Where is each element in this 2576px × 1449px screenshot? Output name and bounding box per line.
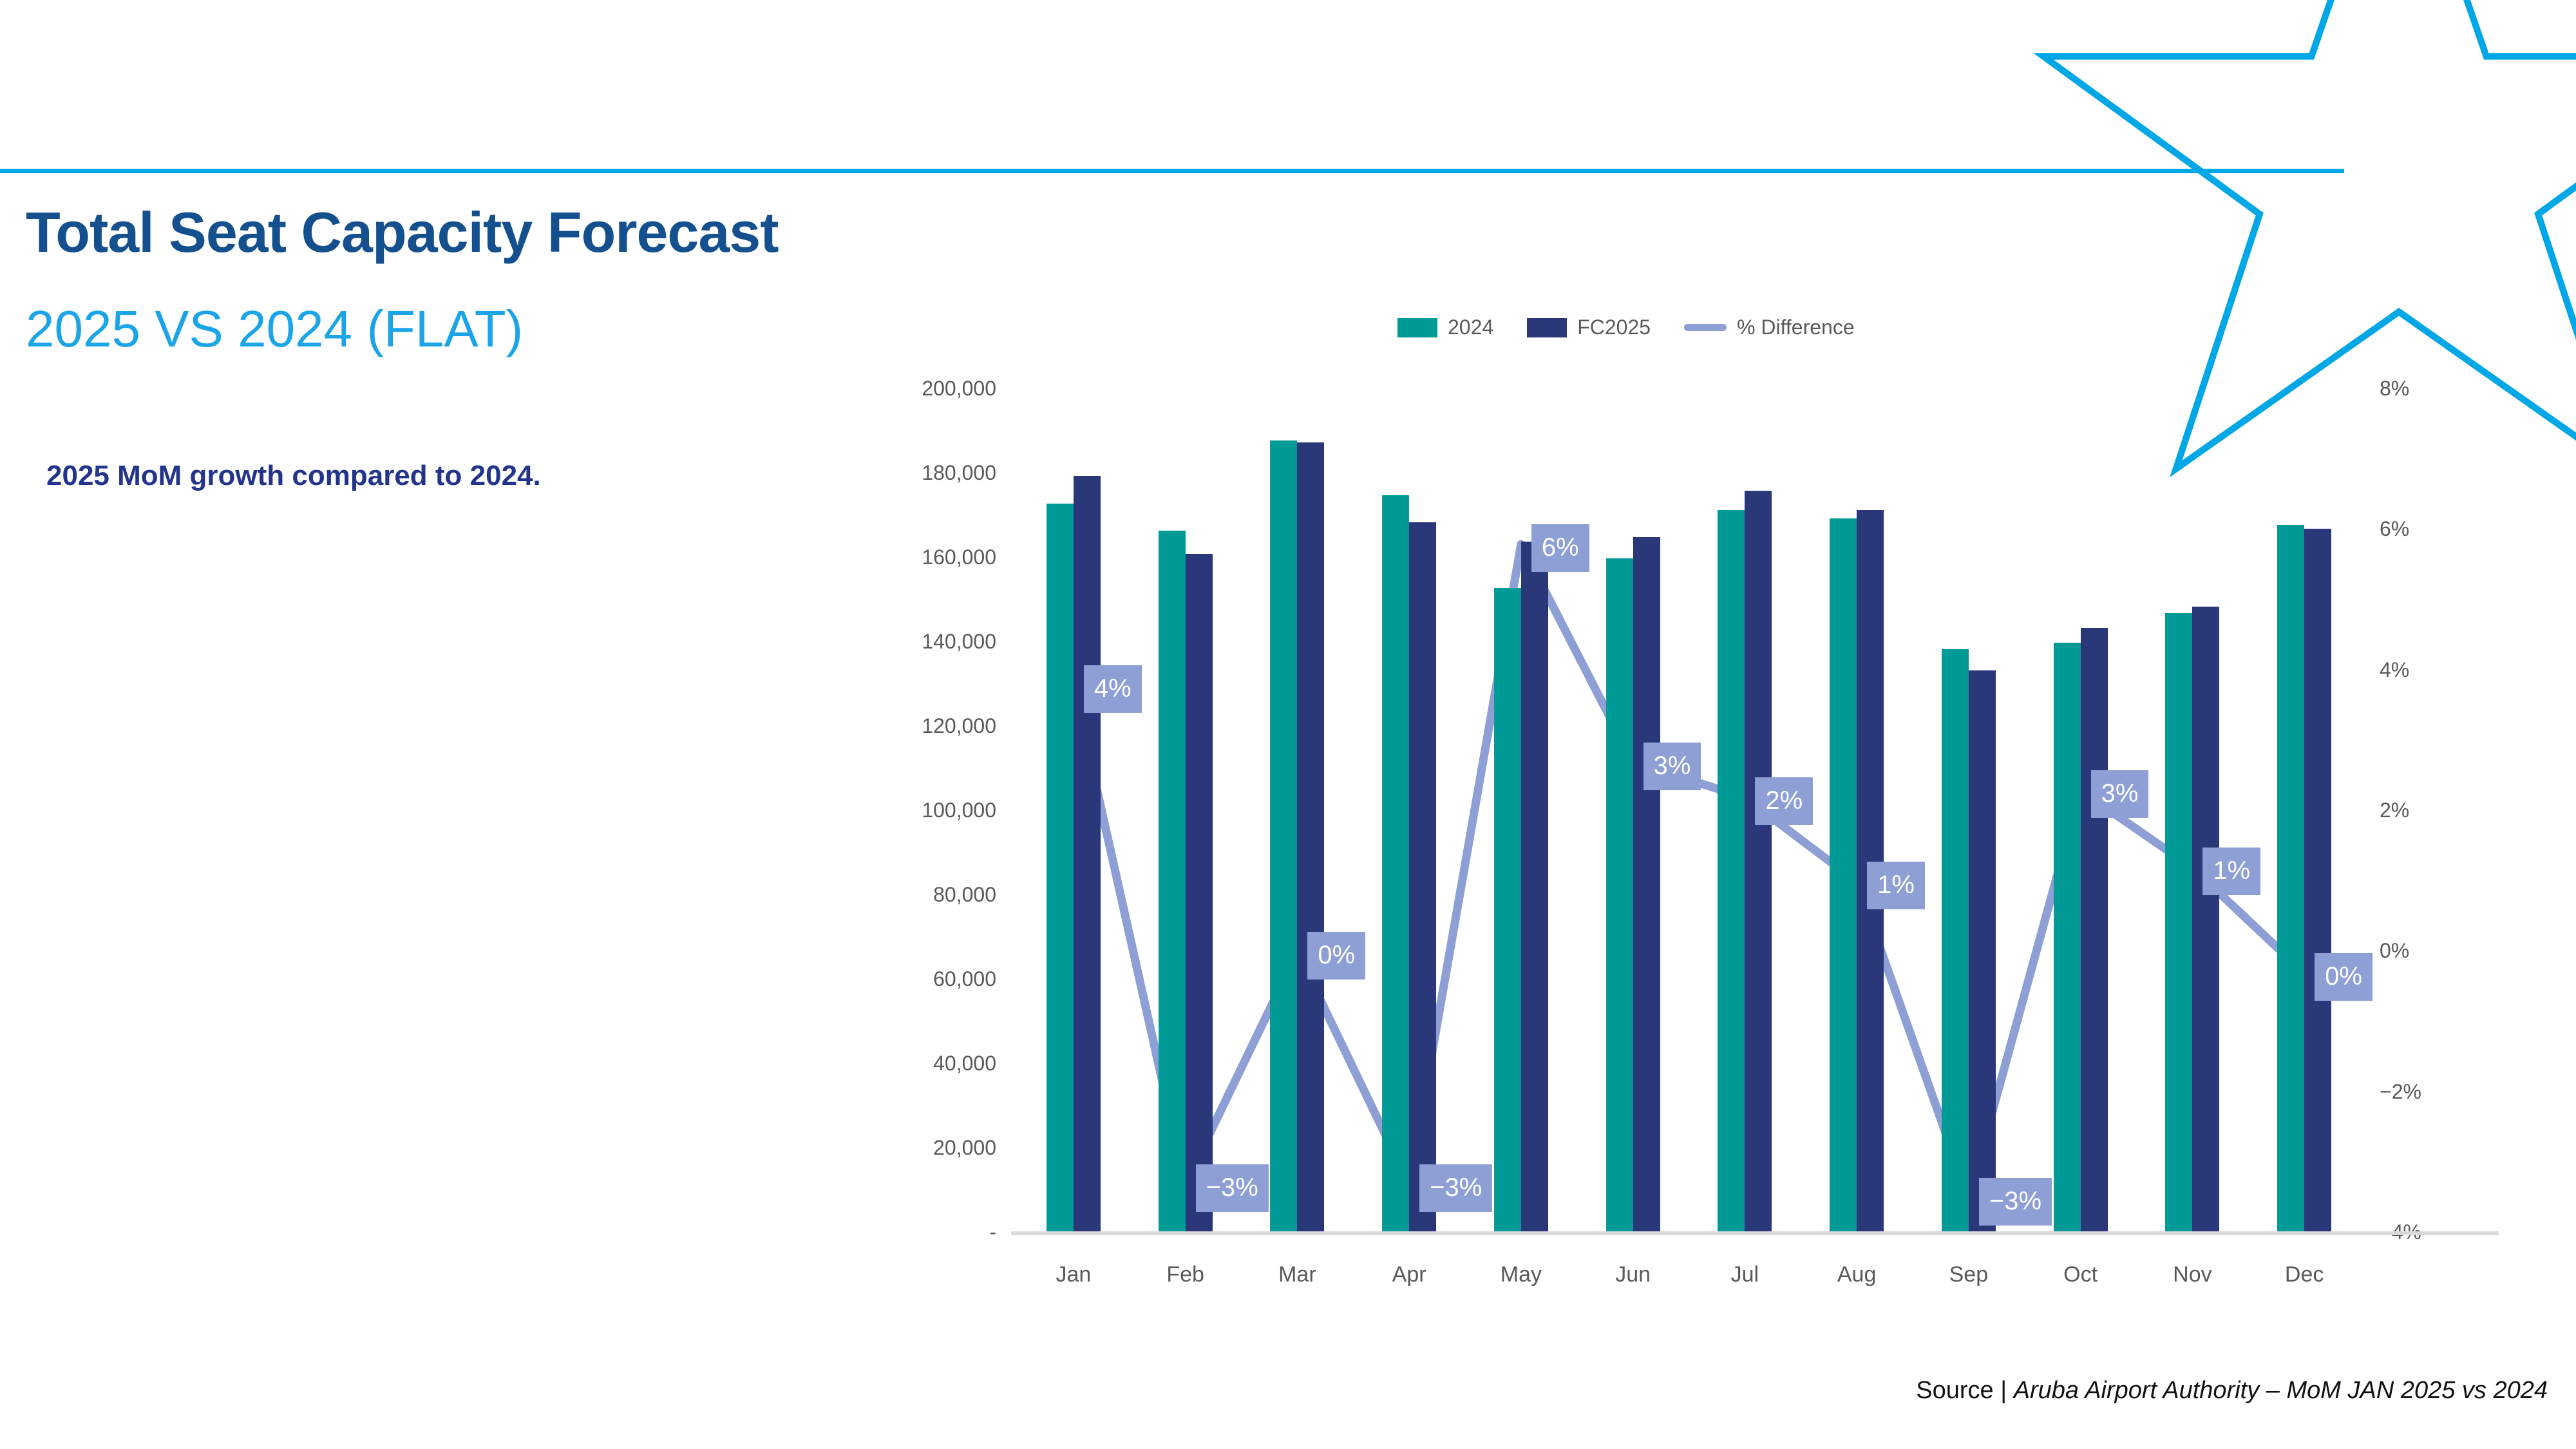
bar-fc2025[interactable] — [1633, 537, 1660, 1233]
difference-data-label: 1% — [2202, 848, 2260, 895]
category-axis-line — [1011, 1231, 2499, 1235]
bar-group — [1353, 390, 1465, 1233]
bar-2024[interactable] — [1942, 649, 1969, 1233]
bar-fc2025[interactable] — [1297, 442, 1324, 1233]
bar-group — [1465, 390, 1577, 1233]
difference-data-label: −3% — [1419, 1164, 1492, 1212]
legend-line-difference — [1684, 324, 1727, 331]
left-axis-tick: 160,000 — [922, 545, 996, 569]
left-axis-tick: 80,000 — [933, 883, 996, 907]
page-subtitle: 2025 VS 2024 (FLAT) — [26, 299, 523, 359]
source-line: Source | Aruba Airport Authority – MoM J… — [1916, 1377, 2548, 1405]
bar-2024[interactable] — [1606, 558, 1633, 1233]
difference-data-label: 3% — [1643, 743, 1701, 790]
difference-data-label: 3% — [2091, 770, 2149, 818]
bar-group — [1913, 390, 2025, 1233]
bar-group — [1018, 390, 1130, 1233]
right-percent-axis: 8%6%4%2%0%−2%−4% — [2367, 390, 2495, 1233]
bar-group — [1577, 390, 1689, 1233]
bar-2024[interactable] — [2165, 613, 2192, 1233]
difference-data-label: −3% — [1196, 1164, 1269, 1212]
difference-data-label: 2% — [1755, 777, 1813, 825]
bar-fc2025[interactable] — [1521, 542, 1548, 1233]
legend-item-difference[interactable]: % Difference — [1684, 316, 1855, 339]
right-axis-tick: 0% — [2380, 939, 2409, 963]
bar-group — [2137, 390, 2249, 1233]
bar-2024[interactable] — [1494, 588, 1521, 1233]
bar-fc2025[interactable] — [1409, 522, 1436, 1233]
bar-2024[interactable] — [1159, 531, 1186, 1233]
left-axis-tick: 60,000 — [933, 967, 996, 991]
chart-legend: 2024 FC2025 % Difference — [1397, 316, 1855, 339]
legend-label-2024: 2024 — [1448, 316, 1493, 339]
source-text: Aruba Airport Authority – MoM JAN 2025 v… — [2014, 1377, 2548, 1404]
difference-data-label: 6% — [1531, 524, 1589, 572]
difference-data-label: −3% — [1979, 1178, 2052, 1226]
bar-2024[interactable] — [2054, 643, 2081, 1233]
left-value-axis: 200,000180,000160,000140,000120,000100,0… — [824, 390, 1008, 1233]
bar-2024[interactable] — [1046, 504, 1074, 1233]
bar-group — [2248, 390, 2360, 1233]
x-axis-label: Feb — [1130, 1262, 1242, 1301]
page-title: Total Seat Capacity Forecast — [26, 200, 779, 265]
legend-label-fc2025: FC2025 — [1577, 316, 1651, 339]
x-axis-label: May — [1465, 1262, 1577, 1301]
bar-group — [1242, 390, 1354, 1233]
right-axis-tick: 2% — [2380, 799, 2409, 822]
bar-fc2025[interactable] — [1074, 476, 1101, 1233]
right-axis-tick: −2% — [2380, 1080, 2421, 1104]
left-axis-tick: 200,000 — [922, 377, 996, 401]
x-axis-label: Aug — [1801, 1262, 1913, 1301]
legend-item-2024[interactable]: 2024 — [1397, 316, 1493, 339]
plot-area: 4%−3%0%−3%6%3%2%1%−3%3%1%0% — [1018, 390, 2360, 1233]
bar-fc2025[interactable] — [1186, 554, 1213, 1233]
right-axis-tick: 6% — [2380, 517, 2409, 541]
kicker-text: 2025 MoM growth compared to 2024. — [46, 457, 690, 495]
left-axis-tick: - — [989, 1220, 996, 1244]
difference-data-label: 0% — [1307, 932, 1365, 980]
category-axis-labels: JanFebMarAprMayJunJulAugSepOctNovDec — [1018, 1262, 2360, 1301]
slide-canvas: Total Seat Capacity Forecast 2025 VS 202… — [0, 0, 2576, 1449]
bar-fc2025[interactable] — [2192, 607, 2219, 1233]
difference-data-label: 4% — [1084, 665, 1142, 713]
x-axis-label: Dec — [2248, 1262, 2360, 1301]
x-axis-label: Jul — [1689, 1262, 1801, 1301]
bar-group — [1130, 390, 1242, 1233]
left-axis-tick: 140,000 — [922, 630, 996, 654]
source-prefix: Source | — [1916, 1377, 2013, 1404]
bar-2024[interactable] — [1382, 495, 1409, 1233]
right-axis-tick: 4% — [2380, 658, 2409, 682]
bar-fc2025[interactable] — [2081, 628, 2108, 1233]
x-axis-label: Apr — [1353, 1262, 1465, 1301]
legend-item-fc2025[interactable]: FC2025 — [1527, 316, 1651, 339]
bar-2024[interactable] — [1270, 440, 1297, 1233]
bar-fc2025[interactable] — [1969, 670, 1996, 1233]
left-axis-tick: 20,000 — [933, 1136, 996, 1160]
x-axis-label: Jun — [1577, 1262, 1689, 1301]
x-axis-label: Mar — [1242, 1262, 1354, 1301]
legend-swatch-fc2025 — [1527, 318, 1567, 337]
legend-label-difference: % Difference — [1737, 316, 1855, 339]
difference-data-label: 1% — [1867, 862, 1925, 909]
bar-2024[interactable] — [1830, 518, 1857, 1233]
left-axis-tick: 100,000 — [922, 799, 996, 822]
header-rule — [0, 169, 2344, 173]
bar-fc2025[interactable] — [1745, 491, 1772, 1233]
x-axis-label: Nov — [2137, 1262, 2249, 1301]
bar-group — [1801, 390, 1913, 1233]
left-axis-tick: 40,000 — [933, 1052, 996, 1075]
x-axis-label: Oct — [2025, 1262, 2137, 1301]
bar-fc2025[interactable] — [2304, 529, 2331, 1233]
seat-capacity-chart: 2024 FC2025 % Difference 200,000180,0001… — [824, 309, 2499, 1314]
x-axis-label: Jan — [1018, 1262, 1130, 1301]
left-axis-tick: 180,000 — [922, 461, 996, 485]
difference-data-label: 0% — [2315, 953, 2372, 1001]
bar-2024[interactable] — [2277, 525, 2304, 1233]
right-axis-tick: 8% — [2380, 377, 2409, 401]
legend-swatch-2024 — [1397, 318, 1437, 337]
x-axis-label: Sep — [1913, 1262, 2025, 1301]
left-axis-tick: 120,000 — [922, 714, 996, 738]
bar-2024[interactable] — [1718, 510, 1745, 1233]
